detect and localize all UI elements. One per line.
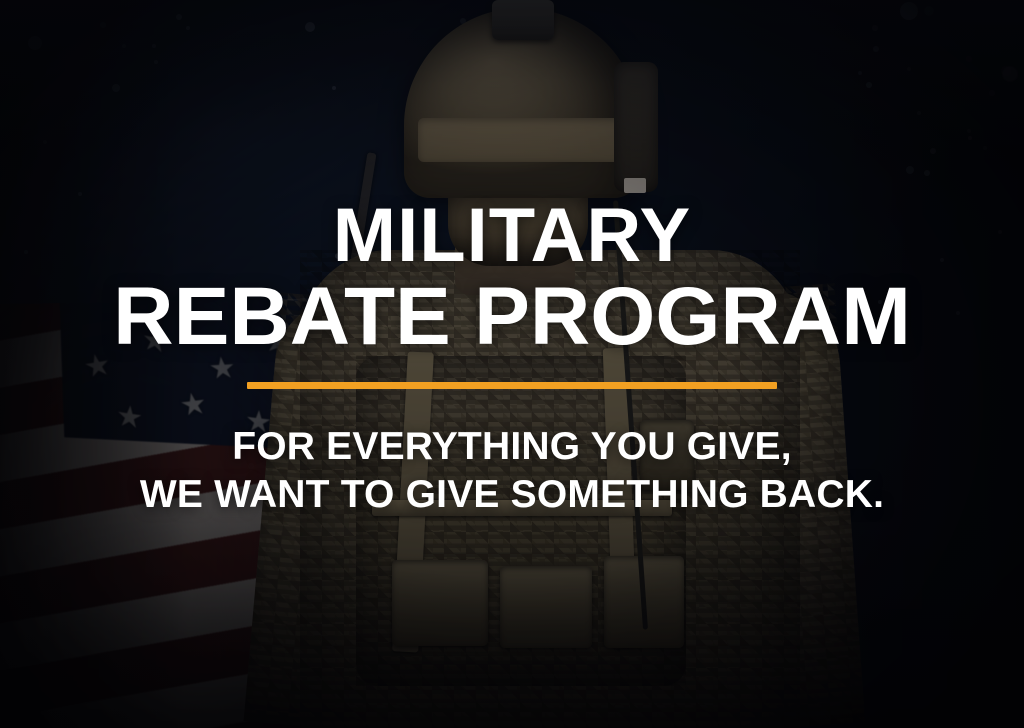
headline-line-1: MILITARY [333, 200, 691, 272]
subheadline-line-2: WE WANT TO GIVE SOMETHING BACK. [140, 471, 884, 519]
orange-divider [247, 382, 777, 389]
banner-content: MILITARY REBATE PROGRAM FOR EVERYTHING Y… [0, 0, 1024, 728]
headline-line-2: REBATE PROGRAM [113, 278, 911, 356]
military-rebate-banner: ★★★★★★★★ M [0, 0, 1024, 728]
subheadline: FOR EVERYTHING YOU GIVE, WE WANT TO GIVE… [140, 423, 884, 518]
subheadline-line-1: FOR EVERYTHING YOU GIVE, [232, 425, 792, 468]
